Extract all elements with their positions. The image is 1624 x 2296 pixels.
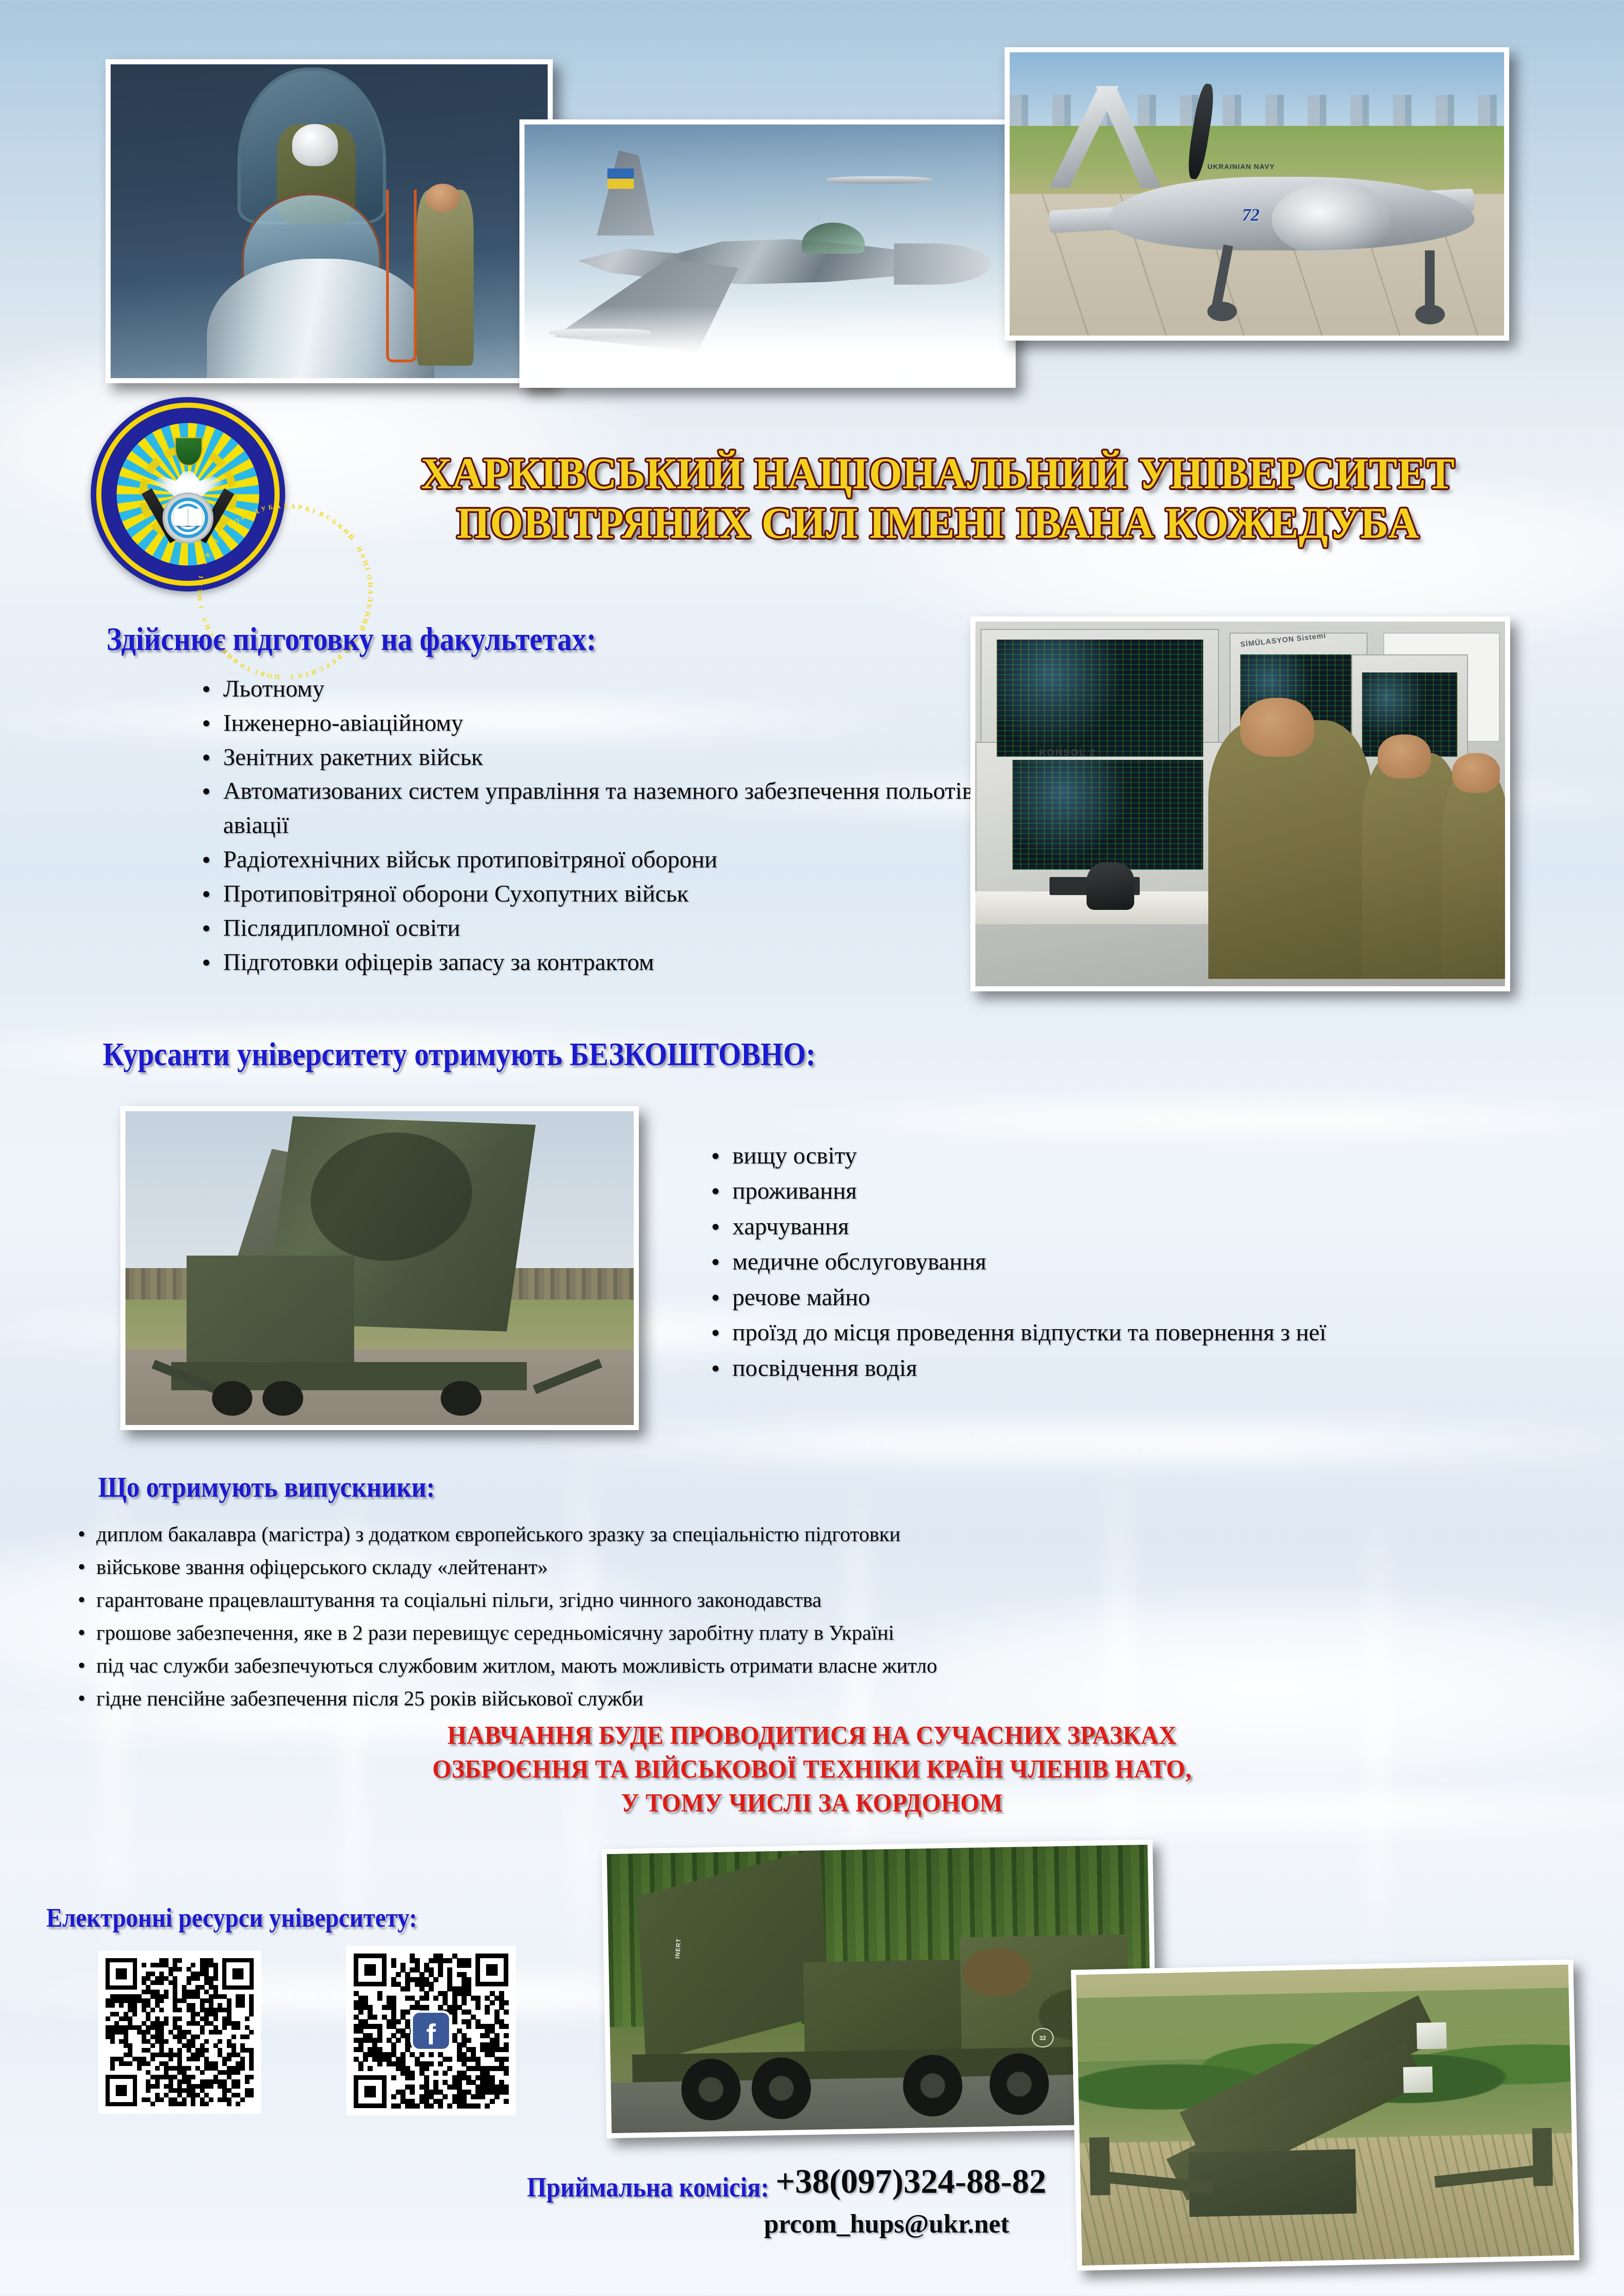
notice-line-3: У ТОМУ ЧИСЛІ ЗА КОРДОНОМ: [0, 1786, 1624, 1820]
admissions-contact-line: Приймальна комісія:+38(097)324-88-82: [0, 2162, 1046, 2202]
list-item: гідне пенсійне забезпечення після 25 рок…: [69, 1682, 1574, 1715]
list-item: харчування: [704, 1209, 1444, 1244]
list-item: гарантоване працевлаштування та соціальн…: [69, 1584, 1574, 1617]
faculties-heading: Здійснює підготовку на факультетах:: [106, 621, 596, 659]
emblem-ring-text: ХАРКІВСЬКИЙ НАЦІОНАЛЬНИЙ УНІВЕРСИТЕТ ПОВ…: [91, 397, 285, 591]
admissions-phone[interactable]: +38(097)324-88-82: [775, 2163, 1046, 2201]
list-item: Льотному: [194, 672, 981, 706]
drone-navy-marking: UKRAINIAN NAVY: [1207, 163, 1275, 171]
list-item: диплом бакалавра (магістра) з додатком є…: [69, 1518, 1574, 1551]
faculties-list: Льотному Інженерно-авіаційному Зенітних …: [194, 672, 981, 979]
free-benefits-list: вищу освіту проживання харчування медичн…: [704, 1139, 1444, 1386]
title-line-1: ХАРКІВСЬКИЙ НАЦІОНАЛЬНИЙ УНІВЕРСИТЕТ: [350, 449, 1526, 498]
graduates-list: диплом бакалавра (магістра) з додатком є…: [69, 1518, 1574, 1716]
list-item: вищу освіту: [704, 1139, 1444, 1174]
list-item: військове звання офіцерського складу «ле…: [69, 1551, 1574, 1584]
list-item: грошове забезпечення, яке в 2 рази перев…: [69, 1617, 1574, 1649]
list-item: Післядипломної освіти: [194, 911, 981, 946]
graduates-heading: Що отримують випускники:: [98, 1471, 435, 1504]
notice-line-2: ОЗБРОЄННЯ ТА ВІЙСЬКОВОЇ ТЕХНІКИ КРАЇН ЧЛ…: [0, 1753, 1624, 1786]
facebook-qr-code[interactable]: f: [346, 1946, 516, 2116]
bayraktar-tb2-drone-photo: UKRAINIAN NAVY 72: [1005, 47, 1509, 341]
f16-fighter-jet-photo: [519, 119, 1016, 388]
list-item: під час служби забезпечуються службовим …: [69, 1649, 1574, 1682]
eresources-heading: Електронні ресурси університету:: [46, 1903, 417, 1933]
nato-training-notice: НАВЧАННЯ БУДЕ ПРОВОДИТИСЯ НА СУЧАСНИХ ЗР…: [0, 1719, 1624, 1820]
missile-launcher-photo: [1071, 1960, 1579, 2271]
page-title: ХАРКІВСЬКИЙ НАЦІОНАЛЬНИЙ УНІВЕРСИТЕТ ПОВ…: [350, 449, 1526, 548]
drone-tail-number: 72: [1242, 205, 1260, 225]
list-item: речове майно: [704, 1280, 1444, 1315]
title-line-2: ПОВІТРЯНИХ СИЛ ІМЕНІ ІВАНА КОЖЕДУБА: [350, 498, 1526, 548]
list-item: проїзд до місця проведення відпустки та …: [704, 1315, 1444, 1350]
simulator-console-label: KONSOL 2: [1039, 747, 1096, 759]
list-item: Протиповітряної оборони Сухопутних війсь…: [194, 877, 981, 911]
pilot-in-cockpit-photo: [106, 59, 553, 383]
admissions-label: Приймальна комісія:: [527, 2171, 769, 2203]
list-item: медичне обслуговування: [704, 1244, 1444, 1280]
admissions-email[interactable]: prcom_hups@ukr.net: [0, 2209, 1009, 2239]
list-item: Радіотехнічних військ протиповітряної об…: [194, 843, 981, 877]
mobile-radar-trailer-photo: [120, 1106, 639, 1430]
list-item: Зенітних ракетних військ: [194, 740, 981, 775]
list-item: Автоматизованих систем управління та наз…: [194, 774, 981, 843]
university-emblem: ХАРКІВСЬКИЙ НАЦІОНАЛЬНИЙ УНІВЕРСИТЕТ ПОВ…: [91, 397, 285, 591]
list-item: посвідчення водія: [704, 1351, 1444, 1386]
notice-line-1: НАВЧАННЯ БУДЕ ПРОВОДИТИСЯ НА СУЧАСНИХ ЗР…: [0, 1719, 1624, 1753]
list-item: Інженерно-авіаційному: [194, 706, 981, 740]
flight-simulator-classroom-photo: SİMÜLASYON Sistemi KONSOL 2: [970, 616, 1510, 991]
list-item: проживання: [704, 1174, 1444, 1209]
list-item: Підготовки офіцерів запасу за контрактом: [194, 946, 981, 980]
facebook-icon: f: [413, 2013, 449, 2049]
free-benefits-heading: Курсанти університету отримують БЕЗКОШТО…: [103, 1036, 816, 1074]
website-qr-code[interactable]: [98, 1951, 261, 2114]
